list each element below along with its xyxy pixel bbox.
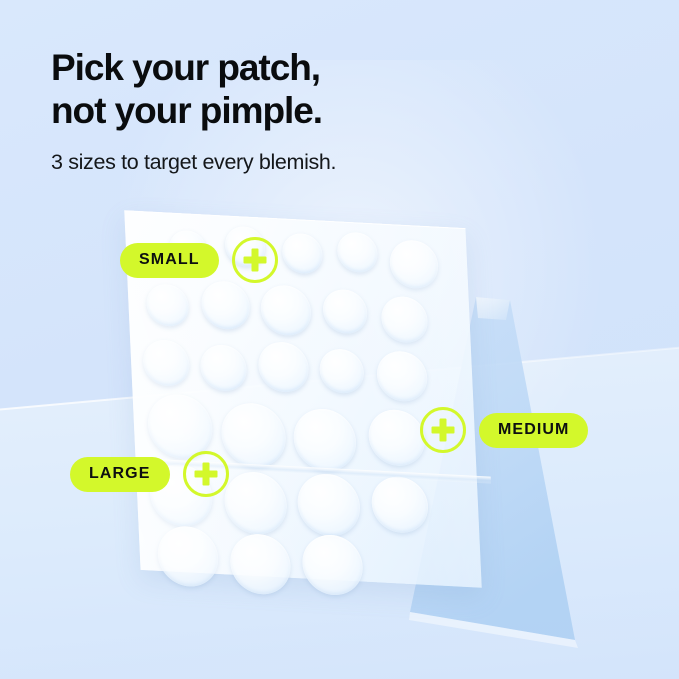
size-badge-large[interactable]: LARGE (70, 451, 229, 497)
size-badge-medium[interactable]: MEDIUM (420, 407, 588, 453)
page-title: Pick your patch, not your pimple. (51, 47, 511, 133)
plus-circle-icon[interactable] (420, 407, 466, 453)
size-badge-large-label: LARGE (70, 457, 170, 492)
size-badge-medium-label: MEDIUM (479, 413, 588, 448)
page-subtitle: 3 sizes to target every blemish. (51, 150, 511, 175)
plus-circle-icon[interactable] (183, 451, 229, 497)
size-badge-small[interactable]: SMALL (120, 237, 278, 283)
size-badge-small-label: SMALL (120, 243, 219, 278)
copy-block: Pick your patch, not your pimple. 3 size… (51, 47, 511, 175)
product-hero-scene: SMALL MEDIUM LARGE Pick your patch, not … (0, 0, 679, 679)
plus-circle-icon[interactable] (232, 237, 278, 283)
